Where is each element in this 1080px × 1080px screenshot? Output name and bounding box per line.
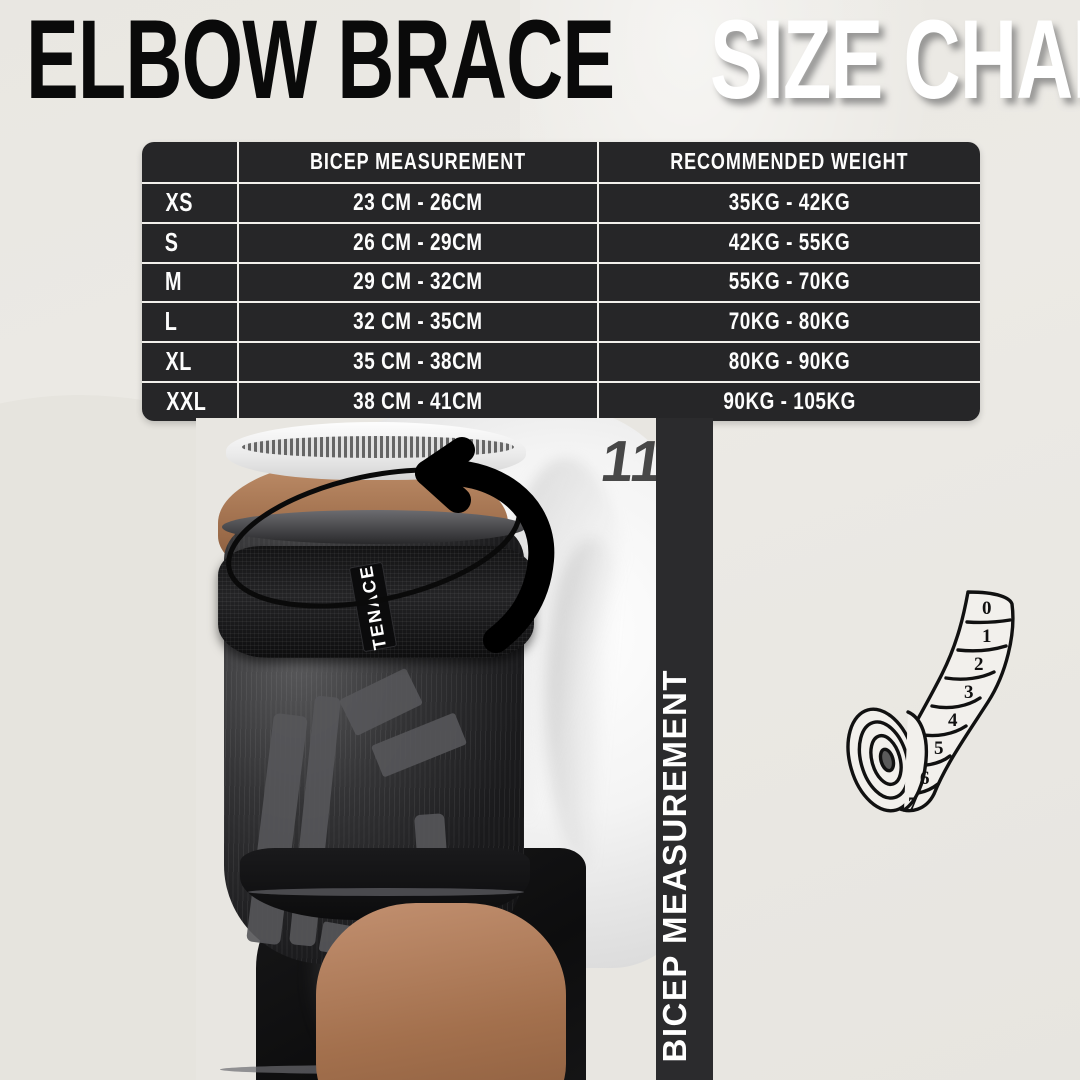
sleeve-stitching [242, 436, 514, 458]
tape-number: 6 [920, 768, 930, 789]
cell-weight: 80KG - 90KG [599, 343, 980, 381]
cell-bicep: 29 CM - 32CM [237, 264, 599, 302]
cell-bicep: 26 CM - 29CM [237, 224, 599, 262]
header-bicep-label: BICEP MEASUREMENT [310, 149, 526, 176]
weight-value: 80KG - 90KG [729, 348, 850, 376]
size-value: M [165, 267, 182, 297]
brace-velcro-strap: TENACE [218, 546, 534, 658]
table-row: XXL 38 CM - 41CM 90KG - 105KG [142, 381, 980, 421]
size-chart-table: BICEP MEASUREMENT RECOMMENDED WEIGHT XS … [142, 142, 980, 421]
size-value: S [165, 228, 179, 258]
bicep-value: 23 CM - 26CM [353, 189, 482, 217]
size-value: XXL [166, 387, 206, 417]
header-cell-weight: RECOMMENDED WEIGHT [599, 142, 980, 182]
brace-silicone-rim [222, 510, 526, 544]
tape-number: 7 [908, 794, 918, 815]
weight-value: 90KG - 105KG [723, 388, 856, 416]
cell-bicep: 38 CM - 41CM [237, 383, 599, 421]
header-weight-label: RECOMMENDED WEIGHT [670, 149, 908, 176]
cell-size: L [142, 303, 237, 341]
cell-size: XS [142, 184, 237, 222]
weight-value: 42KG - 55KG [729, 229, 850, 257]
bicep-value: 38 CM - 41CM [353, 388, 482, 416]
cell-size: XXL [142, 383, 237, 421]
tape-number: 5 [934, 738, 944, 759]
cell-bicep: 35 CM - 38CM [237, 343, 599, 381]
bicep-value: 29 CM - 32CM [353, 269, 482, 297]
cell-weight: 90KG - 105KG [599, 383, 980, 421]
cell-bicep: 32 CM - 35CM [237, 303, 599, 341]
cell-weight: 42KG - 55KG [599, 224, 980, 262]
weight-value: 70KG - 80KG [729, 308, 850, 336]
size-value: XS [166, 188, 194, 218]
cell-weight: 35KG - 42KG [599, 184, 980, 222]
bicep-value: 32 CM - 35CM [353, 308, 482, 336]
tape-number: 2 [974, 654, 984, 675]
size-value: XL [165, 347, 191, 377]
jersey-number: 11 [594, 428, 658, 518]
header-cell-size [142, 142, 237, 182]
measuring-tape-icon: 0 1 2 3 4 5 6 7 [830, 578, 1035, 843]
tape-number: 0 [982, 598, 992, 619]
bicep-value: 35 CM - 38CM [353, 348, 482, 376]
table-row: XL 35 CM - 38CM 80KG - 90KG [142, 341, 980, 381]
jersey-fold [546, 538, 636, 868]
product-photo: 11 TENACE [196, 418, 658, 1080]
forearm-skin [316, 903, 566, 1080]
table-row: L 32 CM - 35CM 70KG - 80KG [142, 301, 980, 341]
cuff-trim-line [248, 888, 524, 896]
cell-size: XL [142, 343, 237, 381]
table-row: M 29 CM - 32CM 55KG - 70KG [142, 262, 980, 302]
table-header-row: BICEP MEASUREMENT RECOMMENDED WEIGHT [142, 142, 980, 182]
cell-weight: 70KG - 80KG [599, 303, 980, 341]
weight-value: 35KG - 42KG [729, 189, 850, 217]
title-elbow-brace: ELBOW BRACE [26, 4, 614, 116]
vertical-label-bar: BICEP MEASUREMENT [656, 418, 713, 1080]
vertical-label-text: BICEP MEASUREMENT [656, 669, 713, 1062]
cell-bicep: 23 CM - 26CM [237, 184, 599, 222]
table-row: XS 23 CM - 26CM 35KG - 42KG [142, 182, 980, 222]
weight-value: 55KG - 70KG [729, 269, 850, 297]
tape-number: 3 [964, 682, 974, 703]
title-size-chart: SIZE CHART [710, 4, 1080, 116]
page-title: ELBOW BRACE SIZE CHART [0, 0, 1080, 120]
tape-number: 1 [982, 626, 992, 647]
cell-size: S [142, 224, 237, 262]
bicep-value: 26 CM - 29CM [353, 229, 482, 257]
cell-size: M [142, 264, 237, 302]
table-row: S 26 CM - 29CM 42KG - 55KG [142, 222, 980, 262]
header-cell-bicep: BICEP MEASUREMENT [237, 142, 599, 182]
cell-weight: 55KG - 70KG [599, 264, 980, 302]
size-value: L [165, 307, 178, 337]
tape-number: 4 [948, 710, 958, 731]
